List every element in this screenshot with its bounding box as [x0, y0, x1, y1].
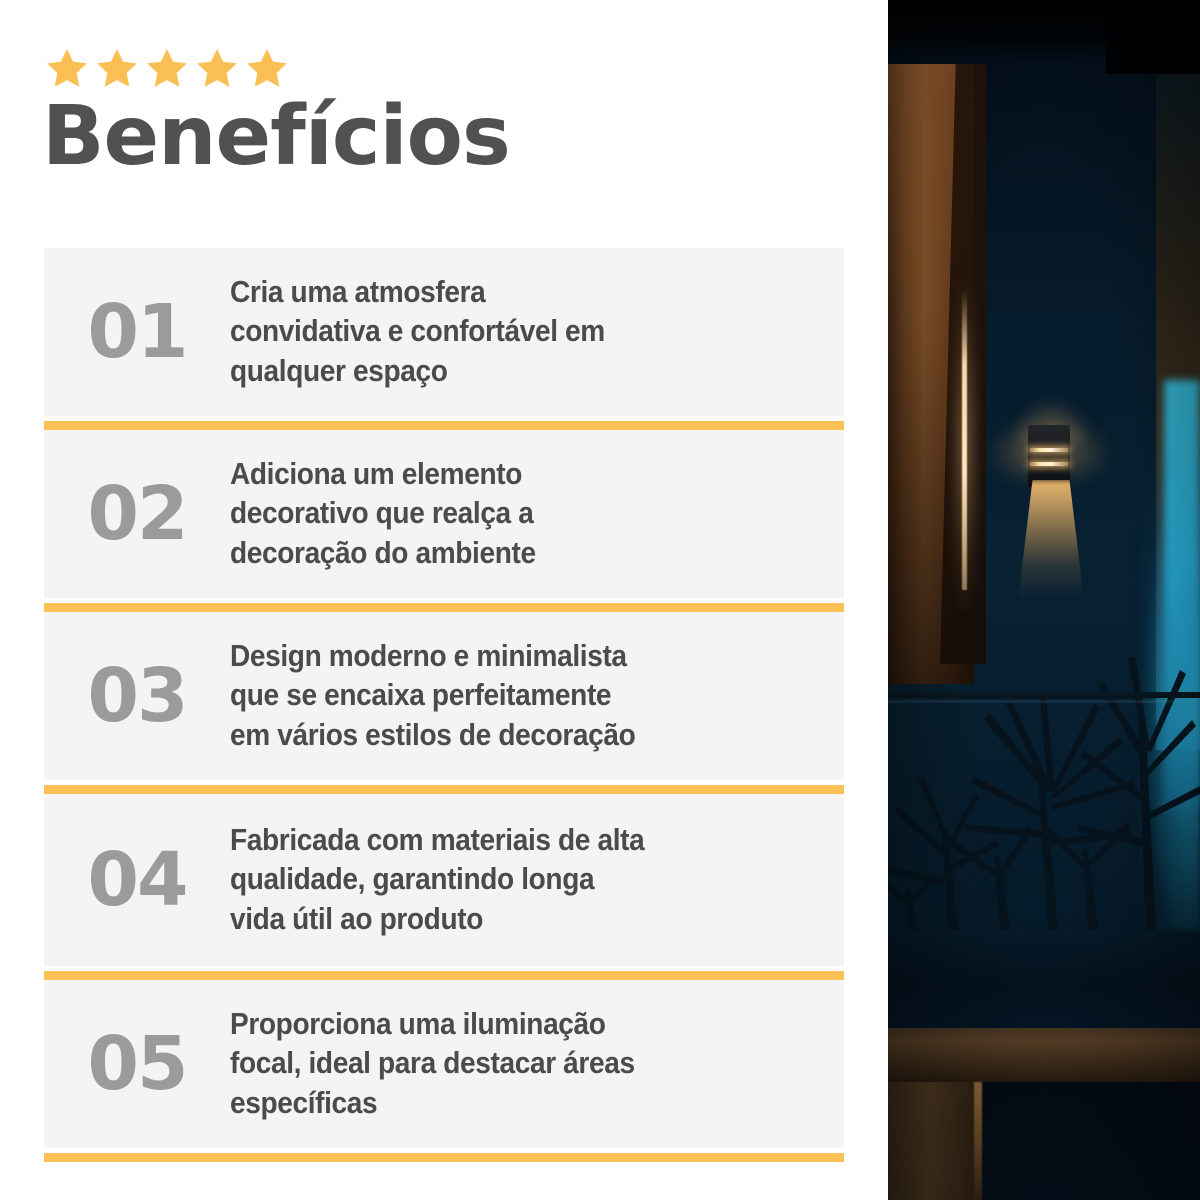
content-panel: Benefícios 01 Cria uma atmosfera convida…: [0, 0, 888, 1200]
benefit-item: 02 Adiciona um elemento decorativo que r…: [44, 430, 844, 598]
benefit-item: 03 Design moderno e minimalista que se e…: [44, 612, 844, 780]
benefits-infographic-page: Benefícios 01 Cria uma atmosfera convida…: [0, 0, 1200, 1200]
photo-ledge-face: [888, 1082, 980, 1200]
benefit-divider: [44, 603, 844, 612]
benefits-list: 01 Cria uma atmosfera convidativa e conf…: [44, 248, 844, 1148]
benefit-text: Design moderno e minimalista que se enca…: [230, 637, 784, 754]
benefit-number: 05: [44, 1027, 230, 1101]
photo-ceiling-corner: [1106, 0, 1200, 74]
lamp-body: [1028, 425, 1070, 487]
star-icon: [94, 46, 140, 90]
benefit-number: 03: [44, 659, 230, 733]
benefit-divider: [44, 971, 844, 980]
photo-ledge-top: [888, 1028, 1200, 1082]
photo-ledge-edge-highlight: [974, 1082, 982, 1200]
benefit-divider: [44, 1153, 844, 1162]
benefit-divider: [44, 421, 844, 430]
benefit-divider: [44, 785, 844, 794]
photo-lower-shadow: [888, 930, 1200, 1030]
page-title: Benefícios: [42, 96, 510, 178]
star-icon: [44, 46, 90, 90]
benefit-item: 04 Fabricada com materiais de alta quali…: [44, 794, 844, 966]
lamp-light-slit: [1030, 462, 1068, 466]
star-icon: [194, 46, 240, 90]
benefit-text: Adiciona um elemento decorativo que real…: [230, 455, 784, 572]
photo-railing-bar: [888, 692, 1200, 698]
benefit-text: Fabricada com materiais de alta qualidad…: [230, 821, 784, 938]
photo-light-strip: [962, 290, 967, 590]
photo-railing-highlight: [888, 700, 1200, 703]
benefit-text: Proporciona uma iluminação focal, ideal …: [230, 1005, 784, 1122]
benefit-number: 01: [44, 295, 230, 369]
photo-ledge-shadow: [980, 1082, 1200, 1200]
wall-lamp-icon: [1028, 425, 1070, 487]
benefit-text: Cria uma atmosfera convidativa e confort…: [230, 273, 784, 390]
product-photo: [888, 0, 1200, 1200]
benefit-number: 02: [44, 477, 230, 551]
rating-stars: [44, 46, 290, 90]
lamp-right-glow: [1064, 420, 1112, 486]
benefit-number: 04: [44, 843, 230, 917]
benefit-item: 05 Proporciona uma iluminação focal, ide…: [44, 980, 844, 1148]
foliage-silhouette-icon: [888, 600, 1200, 930]
lamp-light-slit: [1030, 448, 1068, 452]
star-icon: [244, 46, 290, 90]
photo-foliage: [888, 600, 1200, 930]
star-icon: [144, 46, 190, 90]
benefit-item: 01 Cria uma atmosfera convidativa e conf…: [44, 248, 844, 416]
